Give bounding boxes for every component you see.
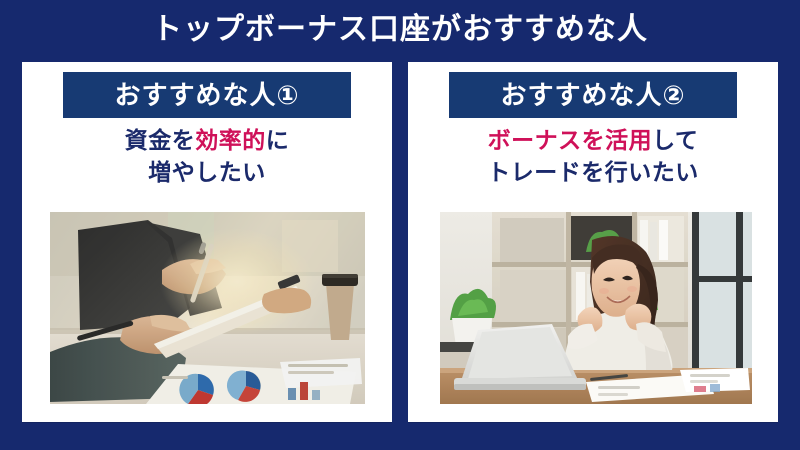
card-2-photo	[440, 212, 752, 404]
card-1-badge: おすすめな人①	[63, 72, 351, 118]
card-1-text-seg-1: 資金を	[125, 127, 196, 153]
card-2-text-seg-1: して	[652, 127, 698, 153]
card-2-badge-label: おすすめな人②	[500, 81, 685, 109]
card-1-text-seg-2: に	[266, 127, 290, 153]
recommend-card-2: おすすめな人② ボーナスを活用して トレードを行いたい	[408, 62, 778, 422]
card-1-text-seg-3: 増やしたい	[148, 159, 266, 185]
card-1-text-highlight: 効率的	[195, 127, 266, 153]
card-1-headline: 資金を効率的に 増やしたい	[22, 124, 392, 188]
card-2-photo-illustration	[440, 212, 752, 404]
card-2-text-seg-2: トレードを行いたい	[487, 159, 699, 185]
card-1-headline-line-2: 増やしたい	[22, 156, 392, 188]
card-2-text-highlight: ボーナスを活用	[488, 127, 653, 153]
slide-canvas: トップボーナス口座がおすすめな人 おすすめな人① 資金を効率的に 増やしたい	[0, 0, 800, 450]
card-1-badge-label: おすすめな人①	[114, 81, 299, 109]
card-1-headline-line-1: 資金を効率的に	[22, 124, 392, 156]
card-1-photo	[50, 212, 365, 404]
card-2-headline: ボーナスを活用して トレードを行いたい	[408, 124, 778, 188]
card-2-headline-line-1: ボーナスを活用して	[408, 124, 778, 156]
card-2-headline-line-2: トレードを行いたい	[408, 156, 778, 188]
recommend-card-1: おすすめな人① 資金を効率的に 増やしたい	[22, 62, 392, 422]
card-1-photo-illustration	[50, 212, 365, 404]
card-2-badge: おすすめな人②	[449, 72, 737, 118]
page-title: トップボーナス口座がおすすめな人	[0, 10, 800, 50]
